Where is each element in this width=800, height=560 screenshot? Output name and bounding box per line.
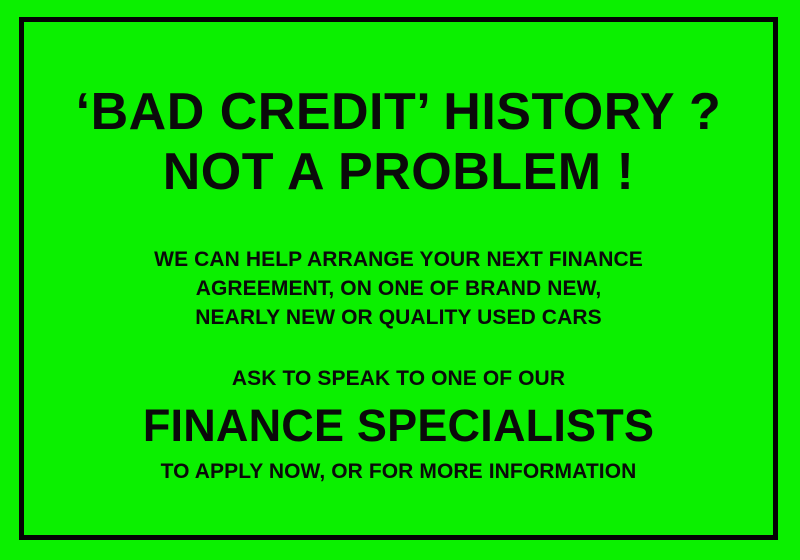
body-line-1: WE CAN HELP ARRANGE YOUR NEXT FINANCE: [19, 245, 778, 274]
finance-advert-poster: ‘BAD CREDIT’ HISTORY ? NOT A PROBLEM ! W…: [0, 0, 800, 560]
cta-headline-finance-specialists: FINANCE SPECIALISTS: [19, 399, 778, 453]
poster-content: ‘BAD CREDIT’ HISTORY ? NOT A PROBLEM ! W…: [19, 17, 778, 540]
body-line-2: AGREEMENT, ON ONE OF BRAND NEW,: [19, 274, 778, 303]
cta-lead-line: ASK TO SPEAK TO ONE OF OUR: [19, 364, 778, 393]
headline-block: ‘BAD CREDIT’ HISTORY ? NOT A PROBLEM !: [19, 83, 778, 201]
cta-footer-line: TO APPLY NOW, OR FOR MORE INFORMATION: [19, 457, 778, 486]
call-to-action-block: ASK TO SPEAK TO ONE OF OUR FINANCE SPECI…: [19, 364, 778, 486]
headline-line-2: NOT A PROBLEM !: [19, 143, 778, 201]
body-line-3: NEARLY NEW OR QUALITY USED CARS: [19, 303, 778, 332]
body-paragraph: WE CAN HELP ARRANGE YOUR NEXT FINANCE AG…: [19, 245, 778, 332]
headline-line-1: ‘BAD CREDIT’ HISTORY ?: [19, 83, 778, 141]
